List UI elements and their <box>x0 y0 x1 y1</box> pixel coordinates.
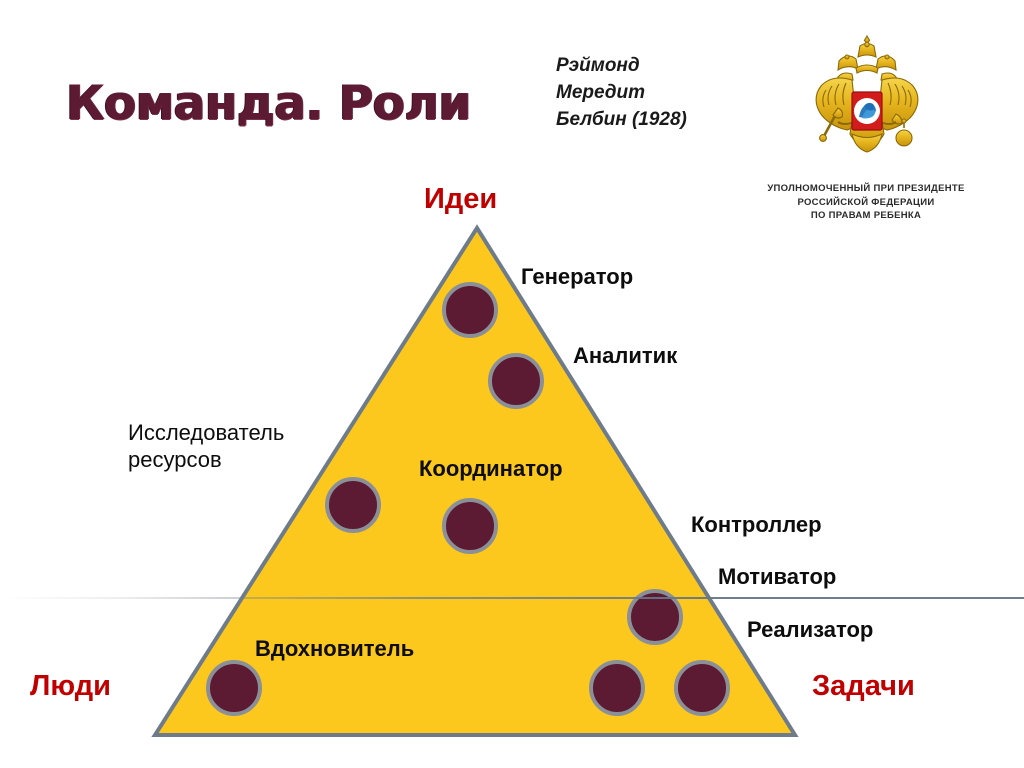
role-dot-generator[interactable] <box>444 284 496 336</box>
axis-label-tasks: Задачи <box>812 670 915 703</box>
role-label-implementer: Реализатор <box>747 617 873 643</box>
role-label-controller: Контроллер <box>691 512 822 538</box>
horizontal-divider-line <box>0 597 1024 599</box>
russian-double-headed-eagle-emblem-icon <box>792 30 942 182</box>
emblem-caption-line-3: ПО ПРАВАМ РЕБЕНКА <box>740 209 992 223</box>
role-dot-motivator[interactable] <box>591 662 643 714</box>
emblem-caption: УПОЛНОМОЧЕННЫЙ ПРИ ПРЕЗИДЕНТЕ РОССИЙСКОЙ… <box>740 182 992 223</box>
role-dot-analyst[interactable] <box>490 355 542 407</box>
role-label-analyst: Аналитик <box>573 343 677 369</box>
role-dot-researcher[interactable] <box>327 479 379 531</box>
author-line-1: Рэймонд <box>556 52 687 79</box>
ombudsman-emblem-block: УПОЛНОМОЧЕННЫЙ ПРИ ПРЕЗИДЕНТЕ РОССИЙСКОЙ… <box>740 30 992 225</box>
emblem-caption-line-1: УПОЛНОМОЧЕННЫЙ ПРИ ПРЕЗИДЕНТЕ <box>740 182 992 196</box>
role-label-motivator: Мотиватор <box>718 564 836 590</box>
slide-canvas: Команда. Роли Рэймонд Мередит Белбин (19… <box>0 0 1024 768</box>
author-line-3: Белбин (1928) <box>556 106 687 133</box>
author-line-2: Мередит <box>556 79 687 106</box>
role-dot-coordinator[interactable] <box>444 500 496 552</box>
role-label-researcher: Исследователь ресурсов <box>128 419 338 473</box>
author-attribution: Рэймонд Мередит Белбин (1928) <box>556 52 687 133</box>
role-dot-inspirer[interactable] <box>208 662 260 714</box>
role-label-generator: Генератор <box>521 264 633 290</box>
page-title: Команда. Роли <box>66 76 471 131</box>
axis-label-people: Люди <box>30 670 111 703</box>
axis-label-ideas: Идеи <box>424 183 497 216</box>
role-label-coordinator: Координатор <box>419 456 563 482</box>
emblem-caption-line-2: РОССИЙСКОЙ ФЕДЕРАЦИИ <box>740 196 992 210</box>
role-label-inspirer: Вдохновитель <box>255 636 414 662</box>
role-dot-implementer[interactable] <box>676 662 728 714</box>
